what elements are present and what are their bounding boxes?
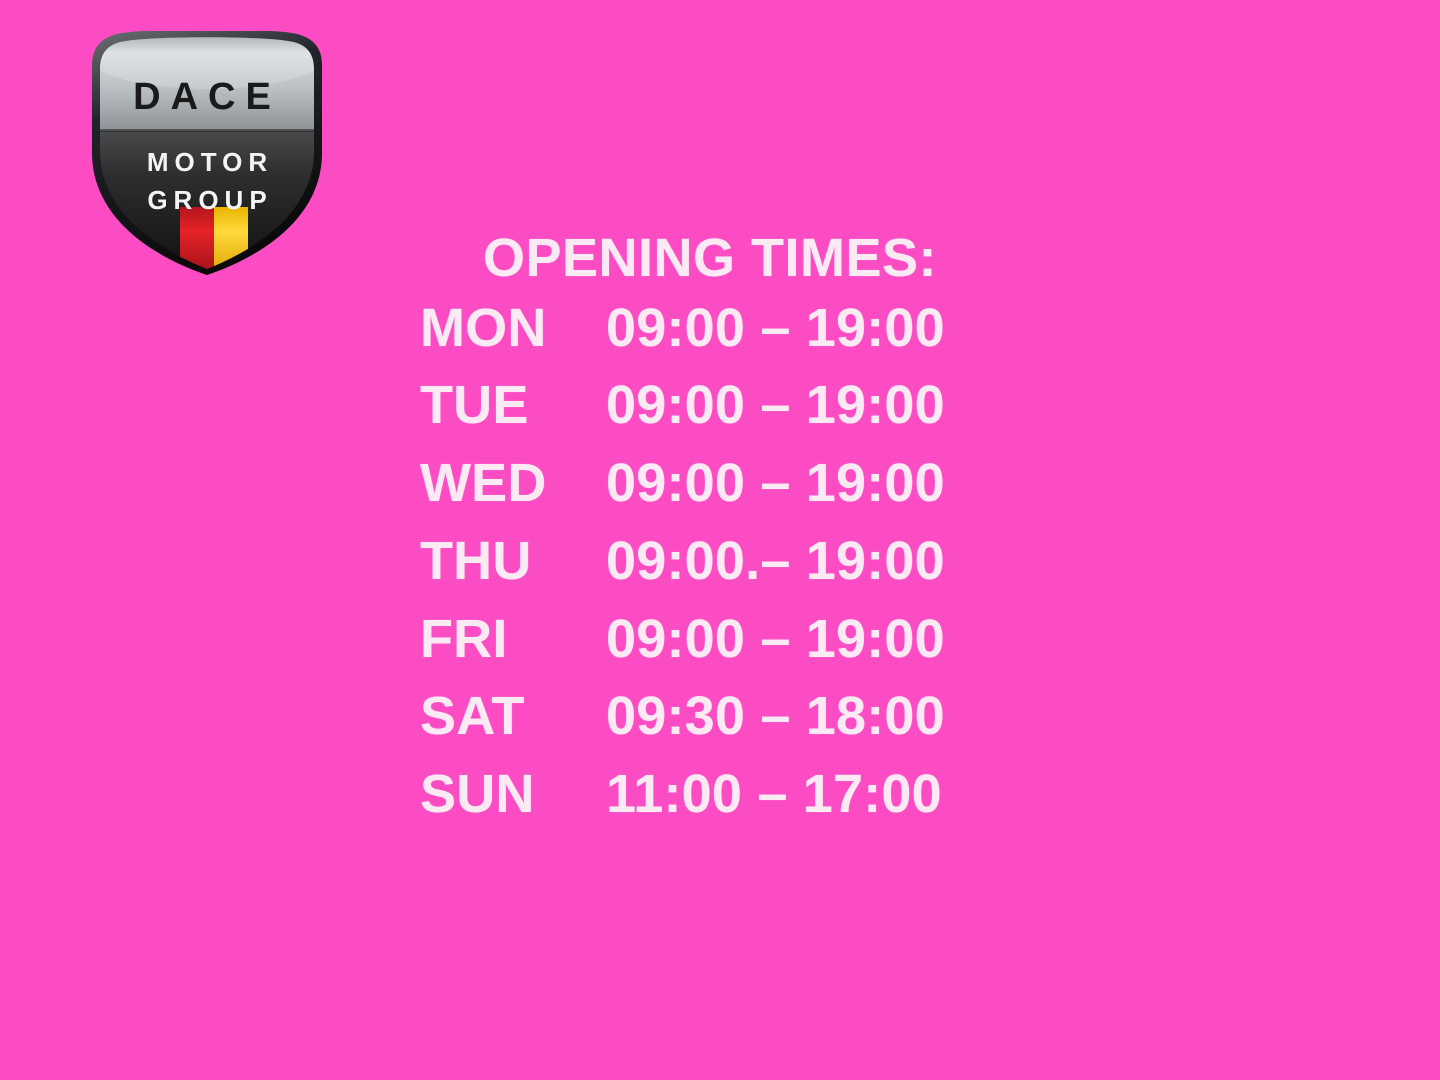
schedule-row-thu: THU 09:00.– 19:00 <box>420 523 1020 601</box>
schedule-hours-fri: 09:00 – 19:00 <box>606 601 1020 679</box>
logo-text-group: GROUP <box>147 185 272 215</box>
schedule-hours-sun: 11:00 – 17:00 <box>606 756 1020 834</box>
schedule-day-mon: MON <box>420 290 606 368</box>
schedule-hours-thu: 09:00.– 19:00 <box>606 523 1020 601</box>
logo-text-dace: DACE <box>133 76 281 118</box>
schedule-row-wed: WED 09:00 – 19:00 <box>420 445 1020 523</box>
schedule-row-fri: FRI 09:00 – 19:00 <box>420 601 1020 679</box>
schedule-row-sun: SUN 11:00 – 17:00 <box>420 756 1020 834</box>
schedule-hours-tue: 09:00 – 19:00 <box>606 367 1020 445</box>
schedule-day-tue: TUE <box>420 367 606 445</box>
opening-times-block: OPENING TIMES: MON 09:00 – 19:00 TUE 09:… <box>420 228 1020 834</box>
schedule-day-fri: FRI <box>420 601 606 679</box>
schedule-day-wed: WED <box>420 445 606 523</box>
schedule-row-mon: MON 09:00 – 19:00 <box>420 290 1020 368</box>
schedule-hours-sat: 09:30 – 18:00 <box>606 678 1020 756</box>
schedule-day-sun: SUN <box>420 756 606 834</box>
schedule-row-sat: SAT 09:30 – 18:00 <box>420 678 1020 756</box>
logo-text-motor: MOTOR <box>147 147 273 177</box>
dace-motor-group-logo: DACE MOTOR GROUP <box>86 31 328 275</box>
schedule-day-thu: THU <box>420 523 606 601</box>
schedule-row-tue: TUE 09:00 – 19:00 <box>420 367 1020 445</box>
opening-times-poster: DACE MOTOR GROUP OPENING TIMES: MON 09:0… <box>0 0 1440 1080</box>
schedule-day-sat: SAT <box>420 678 606 756</box>
schedule-hours-wed: 09:00 – 19:00 <box>606 445 1020 523</box>
schedule-hours-mon: 09:00 – 19:00 <box>606 290 1020 368</box>
opening-times-heading: OPENING TIMES: <box>420 228 1020 290</box>
